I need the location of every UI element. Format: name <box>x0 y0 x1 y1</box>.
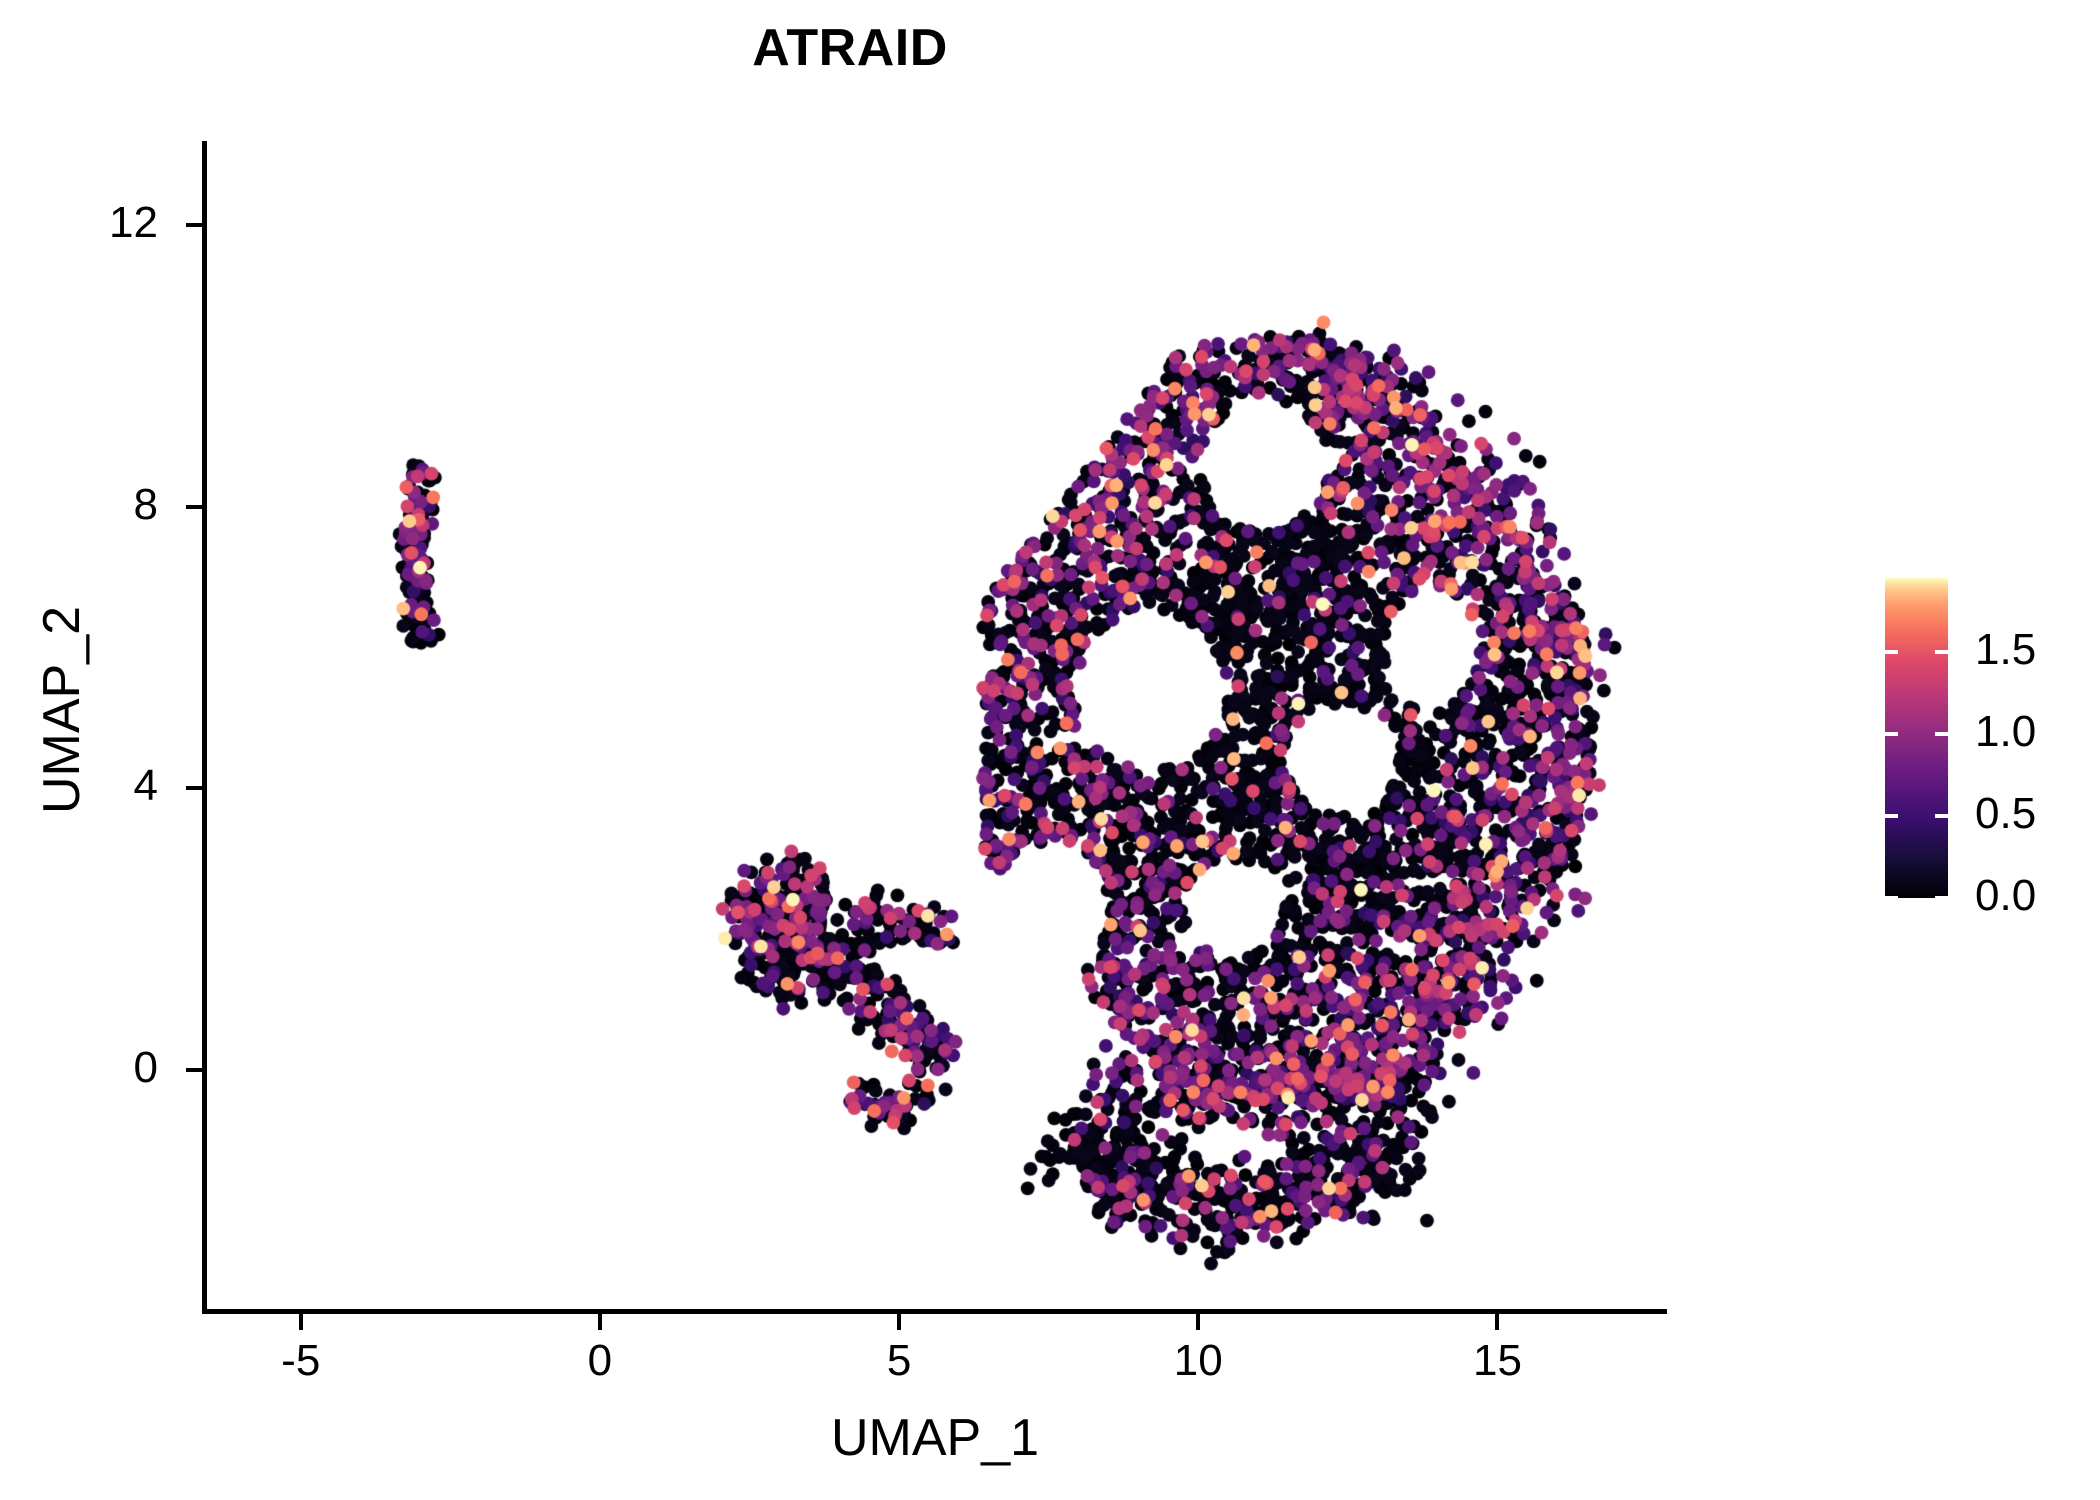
color-legend: 0.00.51.01.5 <box>1885 578 2085 898</box>
legend-tick-label: 1.5 <box>1975 625 2036 675</box>
legend-tick-mark <box>1885 650 1898 654</box>
plot-panel <box>205 141 1665 1309</box>
legend-tick-mark <box>1885 896 1898 900</box>
y-axis-line <box>202 141 207 1313</box>
y-tick-label: 12 <box>0 198 170 248</box>
x-tick-label: 10 <box>1118 1336 1278 1386</box>
legend-tick-label: 0.5 <box>1975 789 2036 839</box>
x-tick-label: 5 <box>819 1336 979 1386</box>
page-title: ATRAID <box>0 18 1700 78</box>
x-tick-mark <box>1196 1314 1200 1330</box>
y-tick-mark <box>186 1068 202 1072</box>
legend-tick-mark <box>1935 814 1948 818</box>
x-tick-label: 15 <box>1417 1336 1577 1386</box>
x-tick-label: 0 <box>520 1336 680 1386</box>
x-tick-mark <box>1495 1314 1499 1330</box>
y-tick-mark <box>186 505 202 509</box>
legend-tick-label: 0.0 <box>1975 871 2036 921</box>
x-axis-title: UMAP_1 <box>205 1408 1665 1468</box>
legend-tick-mark <box>1935 896 1948 900</box>
y-tick-mark <box>186 223 202 227</box>
x-axis-line <box>202 1309 1667 1314</box>
x-tick-mark <box>897 1314 901 1330</box>
legend-colorbar <box>1885 578 1948 898</box>
scatter-plot-canvas <box>205 141 1665 1309</box>
legend-tick-label: 1.0 <box>1975 707 2036 757</box>
legend-tick-mark <box>1935 650 1948 654</box>
legend-tick-mark <box>1885 732 1898 736</box>
feature-plot-figure: ATRAID 04812 -5051015 UMAP_1 UMAP_2 0.00… <box>0 0 2100 1500</box>
x-tick-mark <box>299 1314 303 1330</box>
legend-tick-mark <box>1935 732 1948 736</box>
y-tick-mark <box>186 786 202 790</box>
x-tick-mark <box>598 1314 602 1330</box>
x-tick-label: -5 <box>221 1336 381 1386</box>
y-axis-title: UMAP_2 <box>32 330 92 1090</box>
legend-tick-mark <box>1885 814 1898 818</box>
